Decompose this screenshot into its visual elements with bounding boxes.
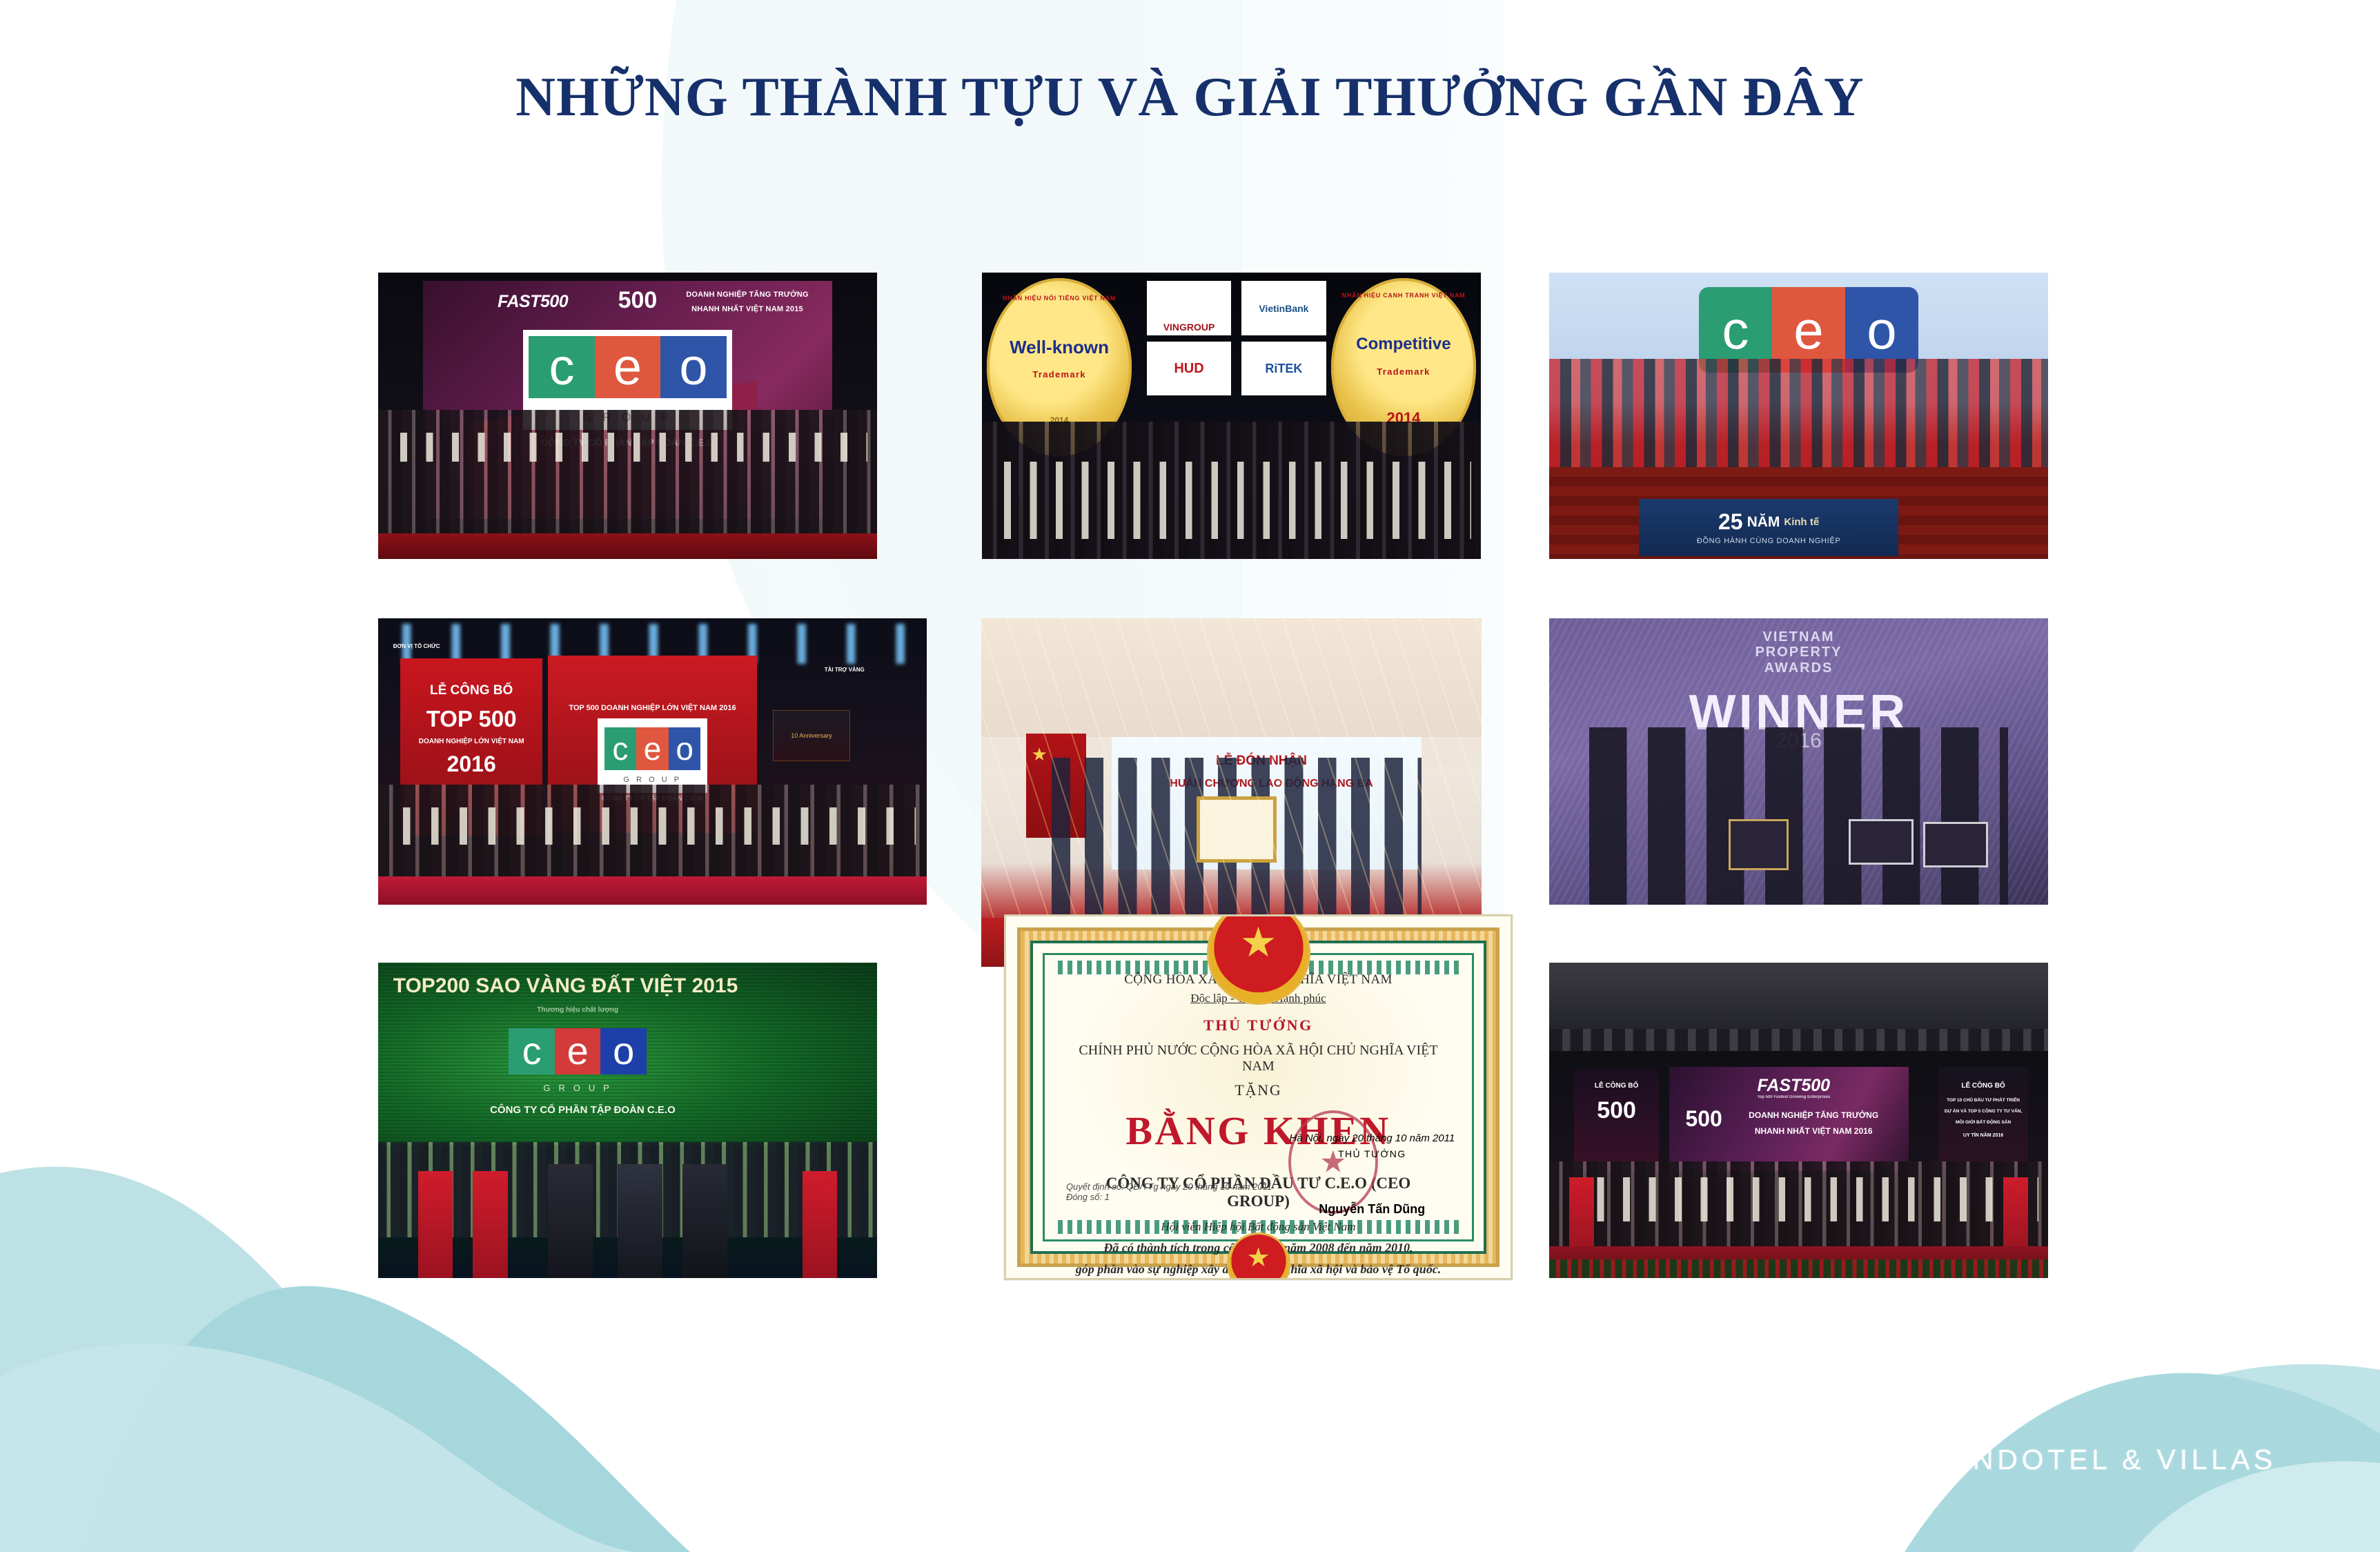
sponsor-label-vietinbank: VietinBank <box>1259 303 1308 314</box>
ceo-logo-letter-e: e <box>555 1028 601 1074</box>
fast500-2016-line2: NHANH NHẤT VIỆT NAM 2016 <box>1729 1127 1898 1136</box>
medal-well-known-arc: NHÃN HIỆU NỔI TIẾNG VIỆT NAM <box>992 295 1126 302</box>
fast500-line1-2015: DOANH NGHIỆP TĂNG TRƯỞNG <box>658 291 837 299</box>
medal-well-known-main: Well-known <box>992 338 1126 357</box>
top500-center-title: TOP 500 DOANH NGHIỆP LỚN VIỆT NAM 2016 <box>553 705 751 713</box>
emblem-bottom-star-icon: ★ <box>1246 1245 1270 1271</box>
top500-left-l3: DOANH NGHIỆP LỚN VIỆT NAM <box>406 738 538 746</box>
top500-anniversary-label: 10 Anniversary <box>791 732 832 739</box>
medal-well-known-sub: Trademark <box>992 370 1126 380</box>
award-photo-fast500-2016[interactable]: LỄ CÔNG BỐ 500 FAST500 Top 500 Fastest G… <box>1549 963 2048 1278</box>
award-photo-fast500-2015[interactable]: FAST500 500 DOANH NGHIỆP TĂNG TRƯỞNG NHA… <box>378 273 877 559</box>
fast500-2016-brand-sub: Top 500 Fastest Growing Enterprises <box>1729 1095 1858 1099</box>
ceo-group-logo: c e o G R O U P <box>598 718 707 793</box>
ceo-logo-group-text: G R O U P <box>543 1083 612 1093</box>
vpa-line1: VIETNAM <box>1714 630 1884 645</box>
ceo-logo-letter-o: o <box>669 727 701 770</box>
emblem-star-icon: ★ <box>1240 922 1277 963</box>
ceo-logo-letter-o: o <box>600 1028 647 1074</box>
certificate-recipient-note: Hội viên Hiệp hội Bất động sản Việt Nam <box>1074 1220 1442 1234</box>
fast500-2016-right-l2: TOP 10 CHỦ ĐẦU TƯ PHÁT TRIỂN <box>1938 1099 2028 1103</box>
footer-brand: SONASEA CONDOTEL & VILLAS <box>1748 1444 2276 1476</box>
certificate-decision-no: Quyết định số: QĐ/TTg ngày 20 tháng 10 n… <box>1066 1181 1272 1192</box>
sponsor-logo-ritek: RiTEK <box>1241 342 1326 396</box>
fast500-2016-line1: DOANH NGHIỆP TĂNG TRƯỞNG <box>1729 1111 1898 1120</box>
certificate-issuer-body: CHÍNH PHỦ NƯỚC CỘNG HÒA XÃ HỘI CHỦ NGHĨA… <box>1074 1043 1442 1074</box>
award-photo-well-known-trademark-2014[interactable]: NHÃN HIỆU NỔI TIẾNG VIỆT NAM Well-known … <box>982 273 1481 559</box>
page-title: NHỮNG THÀNH TỰU VÀ GIẢI THƯỞNG GẦN ĐÂY <box>0 66 2380 129</box>
certificate-place-date: Hà Nội, ngày 20 tháng 10 năm 2011 <box>1289 1132 1455 1144</box>
sponsor-label-hud: HUD <box>1174 361 1203 377</box>
ceo-logo-letter-e: e <box>595 336 660 399</box>
top500-side-label-right: TÀI TRỢ VÀNG <box>812 667 877 673</box>
fast500-2016-left-l1: LỄ CÔNG BỐ <box>1574 1083 1659 1090</box>
sponsor-label-ritek: RiTEK <box>1265 362 1302 376</box>
saovang-title: TOP200 SAO VÀNG ĐẤT VIỆT 2015 <box>393 975 763 997</box>
podium-number: 25 <box>1718 509 1743 535</box>
award-photo-25-nam-kinh-te[interactable]: c e o 25 NĂM Kinh tế ĐỒNG HÀNH CÙNG DOAN… <box>1549 273 2048 559</box>
certificate-book-no: Đóng số: 1 <box>1066 1192 1272 1202</box>
vpa-line2: PROPERTY <box>1714 645 1884 660</box>
top500-side-label-left: ĐƠN VỊ TỔ CHỨC <box>384 644 449 649</box>
fast500-2016-number: 500 <box>1674 1108 1734 1131</box>
fast500-line2-2015: NHANH NHẤT VIỆT NAM 2015 <box>658 306 837 314</box>
certificate-decision-meta: Quyết định số: QĐ/TTg ngày 20 tháng 10 n… <box>1066 1181 1272 1202</box>
fast500-2016-right-l5: UY TÍN NĂM 2016 <box>1938 1133 2028 1138</box>
certificate-bang-khen[interactable]: CỘNG HÒA XÃ HỘI CHỦ NGHĨA VIỆT NAM Độc l… <box>1004 914 1513 1280</box>
podium-kinhte: Kinh tế <box>1784 516 1819 528</box>
sponsor-logo-vietinbank: VietinBank <box>1241 281 1326 335</box>
ceo-logo-letter-c: c <box>529 336 594 399</box>
ceo-logo-letter-c: c <box>604 727 637 770</box>
award-photo-top500-2016[interactable]: LỄ CÔNG BỐ TOP 500 DOANH NGHIỆP LỚN VIỆT… <box>378 618 927 905</box>
certificate-signature-block: Hà Nội, ngày 20 tháng 10 năm 2011 THỦ TƯ… <box>1289 1132 1455 1217</box>
award-photo-vietnam-property-awards-2016[interactable]: VIETNAM PROPERTY AWARDS WINNER 2016 <box>1549 618 2048 905</box>
medal-competitive-main: Competitive <box>1336 335 1471 353</box>
top500-anniversary-badge: 10 Anniversary <box>773 710 849 762</box>
certificate-award-verb: TẶNG <box>1074 1081 1442 1099</box>
top500-left-l4: 2016 <box>406 753 538 776</box>
slide-root: NHỮNG THÀNH TỰU VÀ GIẢI THƯỞNG GẦN ĐÂY F… <box>0 0 2380 1552</box>
fast500-2016-right-l4: MÔI GIỚI BẤT ĐỘNG SẢN <box>1938 1121 2028 1126</box>
ceo-logo-letter-c: c <box>509 1028 555 1074</box>
fast500-2016-right-l3: DỰ ÁN VÀ TOP 5 CÔNG TY TƯ VẤN, <box>1938 1110 2028 1114</box>
sponsor-logo-vingroup: VINGROUP <box>1147 281 1232 335</box>
certificate-issuer-title: THỦ TƯỚNG <box>1074 1016 1442 1034</box>
top500-left-l1: LỄ CÔNG BỐ <box>406 684 538 698</box>
fast500-2016-right-l1: LỄ CÔNG BỐ <box>1938 1083 2028 1090</box>
ceo-logo-letter-e: e <box>636 727 669 770</box>
fast500-2016-brand: FAST500 <box>1729 1077 1858 1094</box>
saovang-tagline: Thương hiệu chất lượng <box>478 1007 678 1014</box>
certificate-signer-name: Nguyễn Tấn Dũng <box>1289 1202 1455 1217</box>
medal-competitive-arc: NHÃN HIỆU CẠNH TRANH VIỆT NAM <box>1336 293 1471 299</box>
fast500-2016-left-l2: 500 <box>1574 1099 1659 1123</box>
top500-left-l2: TOP 500 <box>406 707 538 731</box>
saovang-company: CÔNG TY CỔ PHẦN TẬP ĐOÀN C.E.O <box>428 1105 737 1116</box>
ceo-logo-letter-o: o <box>660 336 726 399</box>
fast500-brand-2015: FAST500 <box>458 293 608 311</box>
award-photo-sao-vang-dat-viet-2015[interactable]: TOP200 SAO VÀNG ĐẤT VIỆT 2015 Thương hiệ… <box>378 963 877 1278</box>
podium-sign-25nam: 25 NĂM Kinh tế ĐỒNG HÀNH CÙNG DOANH NGHI… <box>1639 499 1898 556</box>
certificate-signer-role: THỦ TƯỚNG <box>1289 1148 1455 1159</box>
podium-tagline: ĐỒNG HÀNH CÙNG DOANH NGHIỆP <box>1697 537 1841 545</box>
podium-nam: NĂM <box>1747 514 1780 531</box>
sponsor-logo-hud: HUD <box>1147 342 1232 396</box>
ceo-group-logo: c e o G R O U P <box>503 1019 653 1101</box>
medal-competitive-sub: Trademark <box>1336 367 1471 377</box>
vpa-line3: AWARDS <box>1714 661 1884 676</box>
ceo-logo-group-text: G R O U P <box>623 776 681 784</box>
sponsor-label-vingroup: VINGROUP <box>1163 322 1215 333</box>
